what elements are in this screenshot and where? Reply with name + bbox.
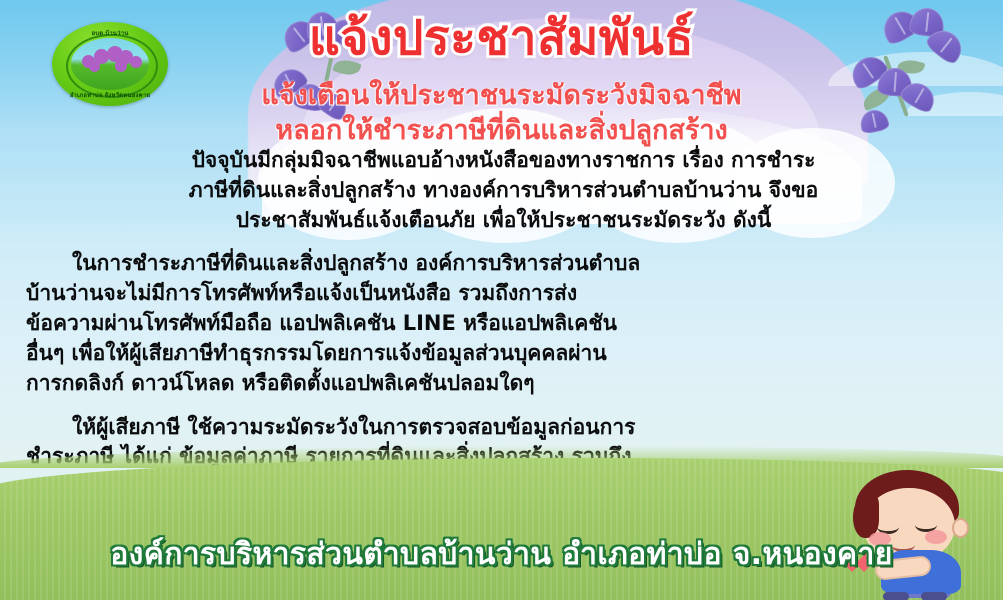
- boy-shoe-right: [921, 592, 947, 600]
- footer-organization: องค์การบริหารส่วนตำบลบ้านว่าน อำเภอท่าบ่…: [0, 531, 1003, 578]
- paragraph-1-line-1: ปัจจุบันมีกลุ่มมิจฉาชีพแอบอ้างหนังสือของ…: [26, 146, 981, 176]
- paragraph-2: ในการชำระภาษีที่ดินและสิ่งปลูกสร้าง องค์…: [26, 249, 981, 398]
- paragraph-2-line-4: อื่นๆ เพื่อให้ผู้เสียภาษีทำธุรกรรมโดยการ…: [26, 339, 981, 369]
- paragraph-1: ปัจจุบันมีกลุ่มมิจฉาชีพแอบอ้างหนังสือของ…: [26, 146, 981, 235]
- paragraph-2-line-2: บ้านว่านจะไม่มีการโทรศัพท์หรือแจ้งเป็นหน…: [26, 279, 981, 309]
- page-title: แจ้งประชาสัมพันธ์: [309, 14, 694, 64]
- subtitle-line-2: หลอกให้ชำระภาษีที่ดินและสิ่งปลูกสร้าง: [0, 113, 1003, 148]
- paragraph-3-line-1-text: ให้ผู้เสียภาษี ใช้ความระมัดระวังในการตรว…: [72, 415, 635, 439]
- paragraph-2-line-1-text: ในการชำระภาษีที่ดินและสิ่งปลูกสร้าง องค์…: [72, 251, 640, 275]
- paragraph-2-line-3: ข้อความผ่านโทรศัพท์มือถือ แอปพลิเคชัน LI…: [26, 309, 981, 339]
- announcement-poster: อบต.บ้านว่าน อำเภอท่าบ่อ จังหวัดหนองคาย …: [0, 0, 1003, 600]
- paragraph-1-line-3: ประชาสัมพันธ์แจ้งเตือนภัย เพื่อให้ประชาช…: [26, 206, 981, 236]
- subtitle-line-1: แจ้งเตือนให้ประชาชนระมัดระวังมิจฉาชีพ: [0, 78, 1003, 113]
- paragraph-2-line-5: การกดลิงก์ ดาวน์โหลด หรือติดตั้งแอปพลิเค…: [26, 369, 981, 399]
- paragraph-2-line-1: ในการชำระภาษีที่ดินและสิ่งปลูกสร้าง องค์…: [26, 249, 981, 279]
- paragraph-1-line-2: ภาษีที่ดินและสิ่งปลูกสร้าง ทางองค์การบริ…: [26, 176, 981, 206]
- paragraph-3-line-1: ให้ผู้เสียภาษี ใช้ความระมัดระวังในการตรว…: [26, 413, 981, 443]
- boy-shoe-left: [883, 592, 909, 600]
- subtitle-container: แจ้งเตือนให้ประชาชนระมัดระวังมิจฉาชีพ หล…: [0, 78, 1003, 148]
- title-container: แจ้งประชาสัมพันธ์: [0, 14, 1003, 64]
